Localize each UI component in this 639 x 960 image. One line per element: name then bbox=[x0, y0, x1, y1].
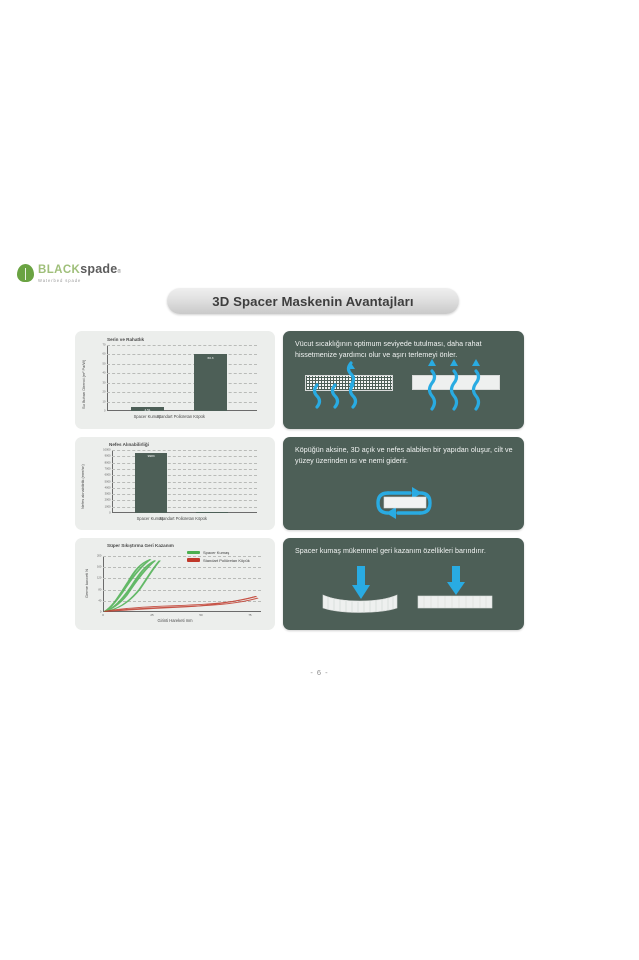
chart-title: Süper Sıkıştırma Geri Kazanım bbox=[107, 543, 174, 548]
airflow-arrows-mesh-icon bbox=[301, 359, 401, 409]
info-text: Köpüğün aksine, 3D açık ve nefes alabile… bbox=[295, 445, 514, 468]
x-tick: 0 bbox=[102, 613, 104, 617]
y-tick: 6000 bbox=[105, 474, 111, 477]
down-arrow-compress-icon bbox=[351, 566, 371, 600]
y-tick: 8000 bbox=[105, 461, 111, 464]
brand-name-part1: BLACK bbox=[38, 265, 80, 277]
chart-ylabel: Germe kuvveti N bbox=[84, 558, 89, 610]
x-axis bbox=[112, 512, 257, 513]
y-tick: 50 bbox=[103, 362, 106, 365]
y-tick: 40 bbox=[103, 372, 106, 375]
chart-card-cooling: Serin ve Rahatlık Su Buharı Direnci (m² … bbox=[75, 331, 275, 429]
chart-title: Nefes Alınabilirliği bbox=[109, 442, 149, 447]
page-title-text: 3D Spacer Maskenin Avantajları bbox=[212, 294, 413, 309]
x-category-label: Standart Poliüretan Köpük bbox=[152, 414, 210, 420]
legend-swatch-red bbox=[187, 558, 200, 561]
y-tick: 160 bbox=[97, 566, 101, 569]
page-title: 3D Spacer Maskenin Avantajları bbox=[167, 288, 459, 314]
brand-logo: BLACK spade ® Waterbed spade bbox=[17, 263, 121, 283]
y-tick: 60 bbox=[103, 353, 106, 356]
bar-foam: 60.3 bbox=[194, 354, 227, 411]
y-tick: 0 bbox=[104, 410, 106, 413]
hysteresis-curves bbox=[103, 556, 261, 612]
page-number: - 6 - bbox=[0, 668, 639, 677]
air-circulation-loop-icon bbox=[358, 483, 450, 525]
y-tick: 9000 bbox=[105, 455, 111, 458]
y-tick: 1000 bbox=[105, 505, 111, 508]
x-tick: 25 bbox=[150, 613, 153, 617]
y-tick: 30 bbox=[103, 381, 106, 384]
brand-tagline: Waterbed spade bbox=[38, 279, 121, 283]
y-tick: 3000 bbox=[105, 493, 111, 496]
down-arrow-recover-icon bbox=[446, 566, 466, 596]
content-row-1: Serin ve Rahatlık Su Buharı Direnci (m² … bbox=[75, 331, 524, 429]
legend-item-spacer: Spacer Kumaş bbox=[187, 550, 250, 555]
info-text: Spacer kumaş mükemmel geri kazanım özell… bbox=[295, 546, 514, 557]
x-tick: 75 bbox=[248, 613, 251, 617]
bar-value-label: 4.51 bbox=[144, 408, 150, 412]
legend-swatch-green bbox=[187, 551, 200, 554]
y-tick: 120 bbox=[97, 577, 101, 580]
x-axis bbox=[107, 410, 257, 411]
bar-foam bbox=[196, 512, 228, 513]
legend-label: Spacer Kumaş bbox=[203, 550, 229, 555]
x-category-label: Standart Poliüretan Köpük bbox=[154, 516, 212, 522]
chart-ylabel: Nefes alınabilirlik (mm/sn) bbox=[80, 457, 85, 517]
y-tick: 20 bbox=[103, 391, 106, 394]
y-tick: 4000 bbox=[105, 486, 111, 489]
y-tick: 7000 bbox=[105, 467, 111, 470]
x-tick: 50 bbox=[199, 613, 202, 617]
info-card-temperature: Vücut sıcaklığının optimum seviyede tutu… bbox=[283, 331, 524, 429]
chart-ylabel: Su Buharı Direnci (m² Pa/W) bbox=[81, 353, 86, 415]
bar-value-label: 9983 bbox=[148, 454, 155, 458]
y-tick: 5000 bbox=[105, 480, 111, 483]
brand-name-part2: spade bbox=[80, 263, 117, 276]
y-tick: 40 bbox=[98, 599, 101, 602]
chart-legend: Spacer Kumaş Standart Poliüretan Köpük bbox=[187, 550, 250, 563]
y-tick: 0 bbox=[100, 611, 102, 614]
y-tick: 70 bbox=[103, 344, 106, 347]
info-card-breathability: Köpüğün aksine, 3D açık ve nefes alabile… bbox=[283, 437, 524, 530]
y-tick: 80 bbox=[98, 588, 101, 591]
content-row-2: Nefes Alınabilirliği Nefes alınabilirlik… bbox=[75, 437, 524, 530]
chart-xlabel: Girinti Hareketi mm bbox=[75, 618, 275, 623]
airflow-arrows-solid-icon bbox=[410, 355, 504, 411]
y-tick: 10000 bbox=[103, 449, 110, 452]
plot-area-2: 10000 9000 8000 7000 6000 5000 4000 3000… bbox=[112, 450, 257, 513]
y-tick: 10 bbox=[103, 400, 106, 403]
chart-card-breathability: Nefes Alınabilirliği Nefes alınabilirlik… bbox=[75, 437, 275, 530]
bar-spacer: 4.51 bbox=[131, 407, 164, 411]
y-tick: 2000 bbox=[105, 499, 111, 502]
plot-area-1: 70 60 50 40 30 20 10 0 4.51 60.3 bbox=[107, 345, 257, 411]
bar-value-label: 60.3 bbox=[207, 356, 213, 360]
leaf-icon bbox=[17, 264, 34, 282]
legend-item-foam: Standart Poliüretan Köpük bbox=[187, 558, 250, 563]
legend-label: Standart Poliüretan Köpük bbox=[203, 558, 250, 563]
info-card-recovery: Spacer kumaş mükemmel geri kazanım özell… bbox=[283, 538, 524, 630]
brand-wordmark: BLACK spade ® Waterbed spade bbox=[38, 263, 121, 283]
y-tick: 200 bbox=[97, 555, 101, 558]
chart-title: Serin ve Rahatlık bbox=[107, 337, 144, 342]
plot-area-3: 200 160 120 80 40 0 0 25 50 75 bbox=[103, 556, 261, 612]
bar-spacer: 9983 bbox=[135, 453, 167, 513]
registered-mark: ® bbox=[117, 270, 121, 275]
y-tick: 0 bbox=[109, 512, 111, 515]
content-row-3: Süper Sıkıştırma Geri Kazanım Germe kuvv… bbox=[75, 538, 524, 630]
chart-card-recovery: Süper Sıkıştırma Geri Kazanım Germe kuvv… bbox=[75, 538, 275, 630]
